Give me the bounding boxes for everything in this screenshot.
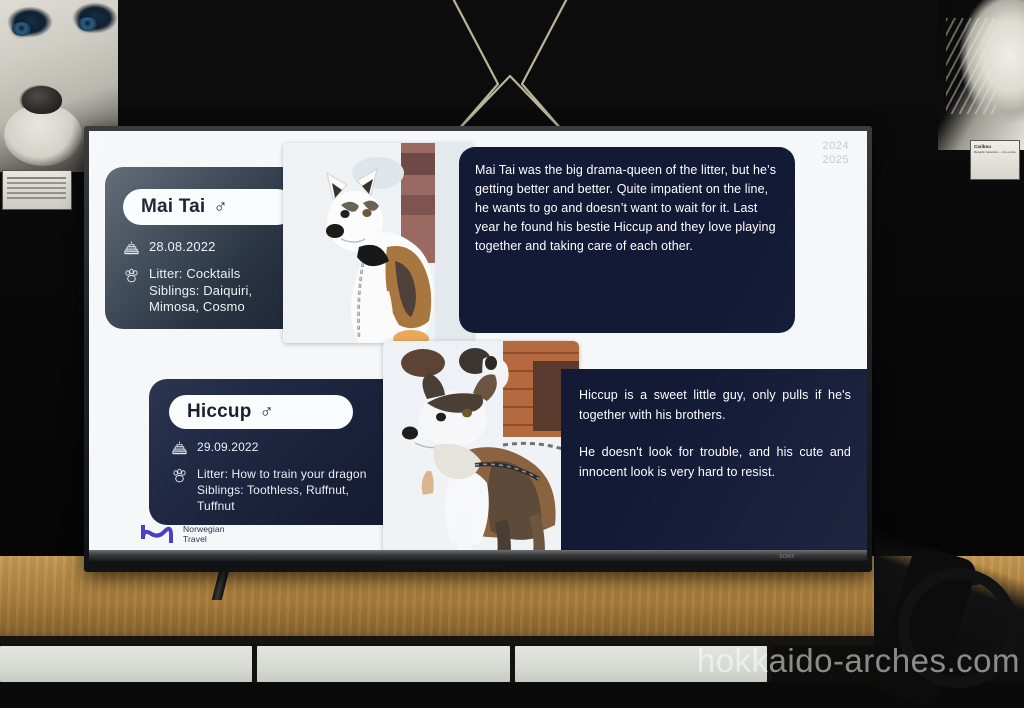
year-to: 2025 bbox=[823, 153, 849, 167]
cake-icon bbox=[123, 240, 140, 257]
siblings-line-1-hiccup: Siblings: Toothless, Ruffnut, bbox=[197, 482, 367, 498]
drawer-1[interactable] bbox=[0, 646, 252, 682]
dog-photo-mai-tai bbox=[283, 143, 473, 343]
tv-chin bbox=[89, 550, 867, 561]
drawer-2[interactable] bbox=[257, 646, 509, 682]
presentation-slide: 2024 2025 Mai Tai ♂ bbox=[89, 131, 867, 561]
dog-name-hiccup: Hiccup bbox=[187, 401, 252, 423]
husky-poster-right bbox=[938, 0, 1024, 150]
dog-description-mai-tai: Mai Tai was the big drama-queen of the l… bbox=[459, 147, 795, 333]
siblings-line-1-mai-tai: Siblings: Daiquiri, bbox=[149, 283, 252, 300]
dog-name-pill-hiccup: Hiccup ♂ bbox=[169, 395, 353, 429]
exhibit-label-left bbox=[2, 170, 72, 210]
male-symbol-icon: ♂ bbox=[260, 403, 274, 422]
dog-description-text-hiccup-2: He doesn't look for trouble, and his cut… bbox=[579, 442, 851, 482]
birthdate-text-hiccup: 29.09.2022 bbox=[197, 439, 259, 455]
siblings-line-2-hiccup: Tuffnut bbox=[197, 498, 367, 514]
litter-text-hiccup: Litter: How to train your dragon Sibling… bbox=[197, 466, 367, 514]
drawer-3[interactable] bbox=[515, 646, 767, 682]
siblings-line-2-mai-tai: Mimosa, Cosmo bbox=[149, 299, 252, 316]
tv-bezel: 2024 2025 Mai Tai ♂ bbox=[84, 126, 872, 572]
dog-name-pill-mai-tai: Mai Tai ♂ bbox=[123, 189, 295, 225]
exhibit-placard-right: Caribou Rangifer tarandus — the reindeer… bbox=[970, 140, 1020, 180]
placard-title: Caribou bbox=[974, 144, 991, 149]
male-symbol-icon: ♂ bbox=[213, 198, 227, 217]
litter-text-mai-tai: Litter: Cocktails Siblings: Daiquiri, Mi… bbox=[149, 266, 252, 316]
paw-icon bbox=[171, 467, 188, 484]
husky-eye-left bbox=[12, 22, 31, 36]
chair-arc bbox=[898, 568, 1018, 688]
brand-logo-text: Norwegian Travel bbox=[183, 524, 225, 544]
norwegian-travel-wave-icon bbox=[141, 523, 175, 545]
dog-description-text-mai-tai: Mai Tai was the big drama-queen of the l… bbox=[475, 161, 779, 256]
year-from: 2024 bbox=[823, 139, 849, 153]
brand-logo-line-2: Travel bbox=[183, 534, 225, 544]
dog-name-mai-tai: Mai Tai bbox=[141, 196, 205, 218]
dog-description-text-hiccup-1: Hiccup is a sweet little guy, only pulls… bbox=[579, 385, 851, 425]
husky-eye-right bbox=[78, 17, 97, 31]
birthdate-text-mai-tai: 28.08.2022 bbox=[149, 239, 216, 256]
dog-description-hiccup: Hiccup is a sweet little guy, only pulls… bbox=[561, 369, 867, 557]
television: 2024 2025 Mai Tai ♂ bbox=[84, 126, 872, 572]
tv-brand-label: SONY bbox=[779, 554, 795, 560]
paw-icon bbox=[123, 267, 140, 284]
console-drawers bbox=[0, 644, 1024, 682]
tv-screen[interactable]: 2024 2025 Mai Tai ♂ bbox=[89, 131, 867, 561]
husky-nose bbox=[22, 86, 62, 114]
litter-name-hiccup: Litter: How to train your dragon bbox=[197, 466, 367, 482]
brand-logo-line-1: Norwegian bbox=[183, 524, 225, 534]
dog-photo-hiccup bbox=[383, 341, 579, 553]
litter-name-mai-tai: Litter: Cocktails bbox=[149, 266, 252, 283]
brand-logo: Norwegian Travel bbox=[141, 523, 225, 545]
room-scene: Caribou Rangifer tarandus — the reindeer… bbox=[0, 0, 1024, 682]
wire-star-decoration bbox=[380, 0, 640, 140]
season-year-stamp: 2024 2025 bbox=[823, 139, 849, 167]
cake-icon bbox=[171, 440, 188, 457]
placard-body: Rangifer tarandus — the reindeer is foun… bbox=[974, 151, 1016, 155]
